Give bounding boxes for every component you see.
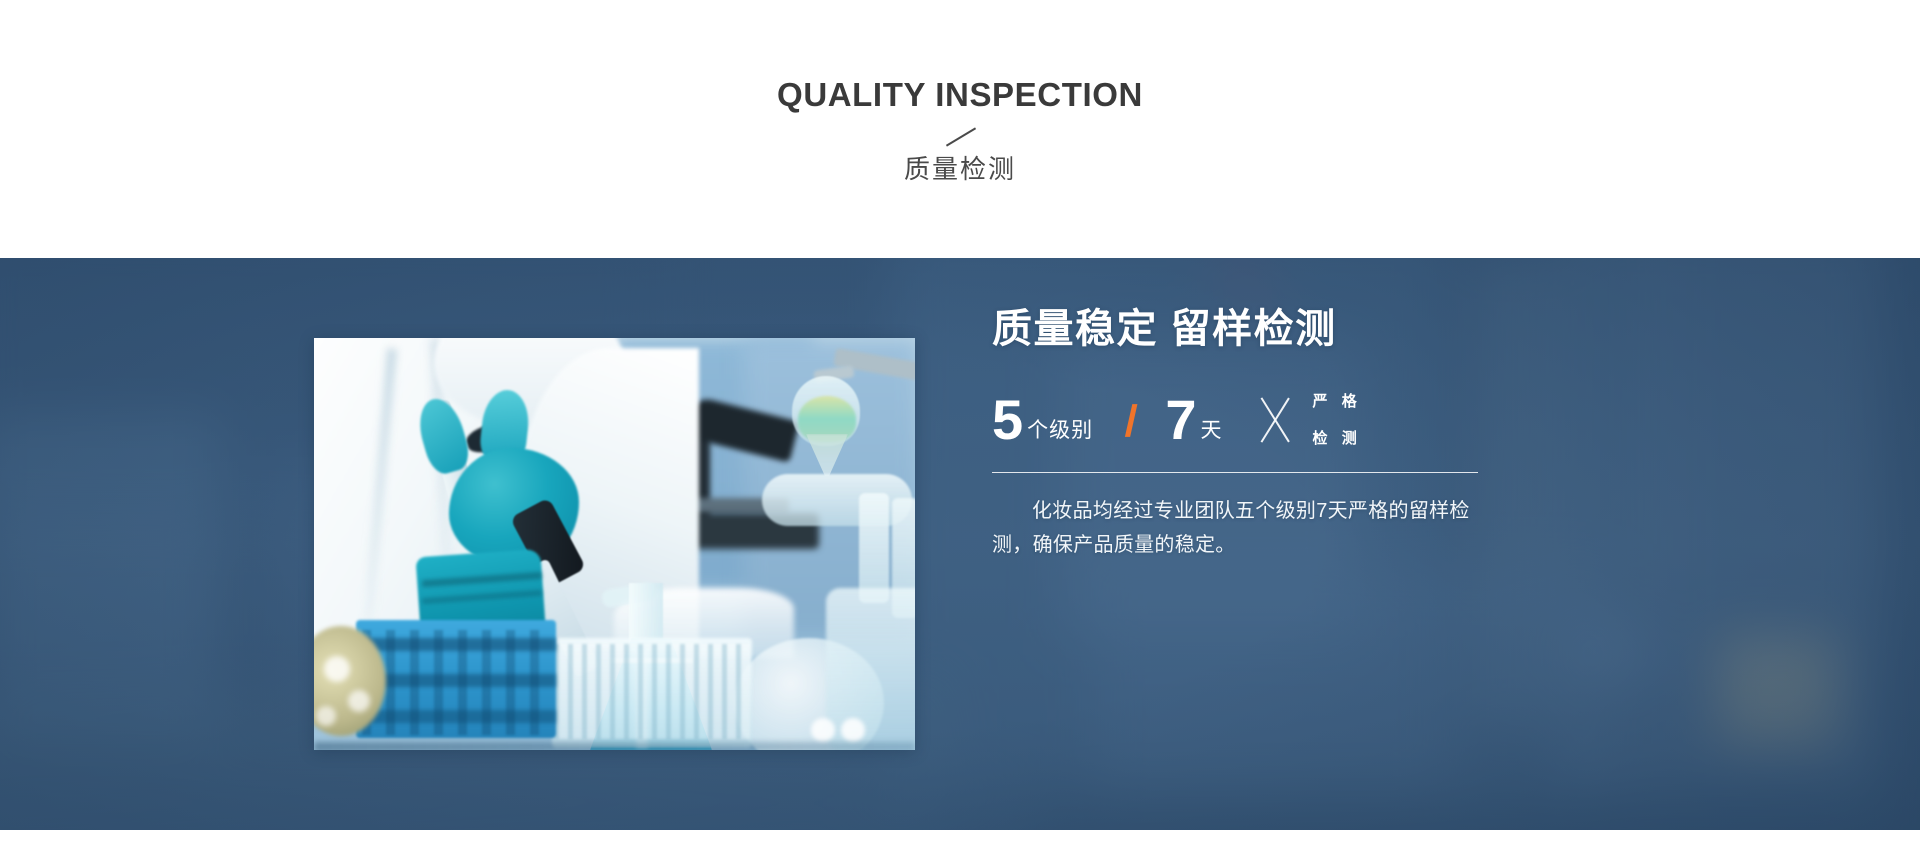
content-divider: [992, 472, 1478, 473]
photo-bokeh-two: [348, 690, 370, 712]
lab-photo: [314, 338, 915, 750]
stat-days-unit: 天: [1201, 420, 1223, 441]
page-title-chinese: 质量检测: [904, 154, 1016, 185]
photo-rack-band-two: [356, 674, 556, 687]
banner-paragraph: 化妆品均经过专业团队五个级别7天严格的留样检测，确保产品质量的稳定。: [992, 495, 1484, 562]
photo-plate-ridges: [554, 644, 750, 739]
banner-content: 质量稳定 留样检测 5 个级别 / 7 天 严 格 检 测 化妆品: [992, 306, 1512, 582]
stat-days: 7 天: [1165, 392, 1222, 448]
photo-rack-band-three: [356, 710, 556, 723]
photo-bench-edge: [314, 742, 915, 750]
stat-levels-unit: 个级别: [1027, 420, 1093, 441]
banner-vignette-overlay: [0, 258, 1920, 830]
x-cross-icon: [1249, 394, 1301, 446]
cross-label-inspection: 检 测: [1313, 431, 1362, 446]
banner-section: 质量稳定 留样检测 5 个级别 / 7 天 严 格 检 测 化妆品: [0, 258, 1920, 830]
photo-bokeh-five: [841, 718, 865, 742]
quality-inspection-page: QUALITY INSPECTION 质量检测: [0, 0, 1920, 852]
photo-bokeh-four: [811, 718, 835, 742]
diagonal-slash-icon: [937, 122, 983, 152]
stat-levels: 5 个级别: [992, 392, 1093, 448]
photo-bokeh-one: [324, 656, 350, 682]
stat-levels-number: 5: [992, 392, 1023, 448]
photo-stopcock: [762, 474, 912, 526]
stat-days-number: 7: [1165, 392, 1196, 448]
stats-row: 5 个级别 / 7 天 严 格 检 测: [992, 386, 1512, 448]
section-header: QUALITY INSPECTION 质量检测: [0, 0, 1920, 258]
photo-rack-band-one: [356, 638, 556, 651]
page-title-english: QUALITY INSPECTION: [777, 78, 1143, 111]
stat-separator: /: [1124, 400, 1138, 444]
photo-glass-tube-one: [859, 493, 889, 603]
photo-tall-beaker: [826, 588, 915, 750]
cross-labels: 严 格 检 测: [1313, 394, 1362, 446]
banner-heading: 质量稳定 留样检测: [992, 306, 1512, 352]
photo-bokeh-three: [316, 706, 336, 726]
cross-label-strict: 严 格: [1313, 394, 1362, 409]
